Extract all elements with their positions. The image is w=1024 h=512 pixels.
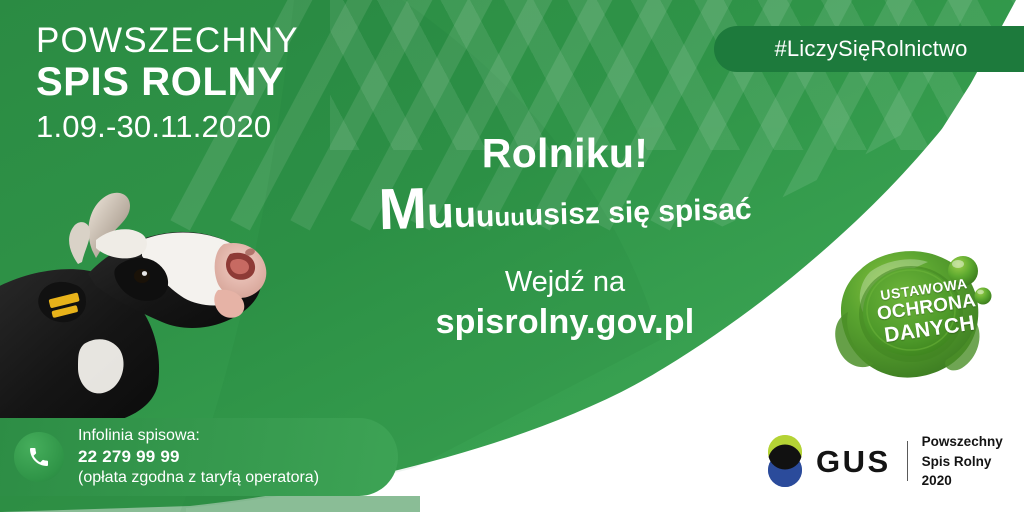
- hotline-text-block: Infolinia spisowa: 22 279 99 99 (opłata …: [78, 426, 319, 489]
- cta-website-url[interactable]: spisrolny.gov.pl: [330, 303, 800, 342]
- moo-letter-u3: u: [476, 200, 495, 234]
- gus-divider: [907, 441, 908, 481]
- gus-wordmark: GUS: [816, 446, 891, 477]
- moo-rest-text: usisz się spisać: [524, 193, 752, 233]
- hashtag-badge[interactable]: #LiczySięRolnictwo: [714, 26, 1024, 72]
- headline-moo: M u u u u u usisz się spisać: [329, 172, 800, 241]
- moo-letter-m: M: [378, 183, 428, 237]
- hotline-label: Infolinia spisowa:: [78, 426, 319, 446]
- headline-rolniku: Rolniku!: [330, 132, 800, 175]
- data-protection-seal: USTAWOWA OCHRONA DANYCH: [826, 248, 1024, 398]
- title-line-powszechny: POWSZECHNY: [36, 22, 336, 60]
- title-line-spis-rolny: SPIS ROLNY: [36, 60, 336, 105]
- phone-icon: [14, 432, 64, 482]
- hotline-number[interactable]: 22 279 99 99: [78, 446, 319, 468]
- main-message: Rolniku! M u u u u u usisz się spisać We…: [330, 132, 800, 342]
- hotline-panel: Infolinia spisowa: 22 279 99 99 (opłata …: [0, 418, 398, 496]
- moo-letter-u4: u: [494, 202, 511, 233]
- page-title: POWSZECHNY SPIS ROLNY 1.09.-30.11.2020: [36, 22, 336, 147]
- cow-image: [0, 178, 282, 428]
- gus-subtitle: Powszechny Spis Rolny 2020: [922, 432, 1024, 491]
- moo-letter-u5: u: [510, 204, 525, 232]
- cta-lead-text: Wejdź na: [330, 265, 800, 300]
- hotline-note: (opłata zgodna z taryfą operatora): [78, 468, 319, 488]
- census-banner: POWSZECHNY SPIS ROLNY 1.09.-30.11.2020 #…: [0, 0, 1024, 512]
- hashtag-label: #LiczySięRolnictwo: [774, 36, 967, 62]
- gus-subtitle-line2: Spis Rolny 2020: [922, 452, 1024, 491]
- moo-letter-u1: u: [426, 188, 454, 239]
- gus-logo: GUS Powszechny Spis Rolny 2020: [762, 432, 1024, 491]
- moo-letter-u2: u: [453, 194, 476, 237]
- title-line-dates: 1.09.-30.11.2020: [36, 107, 336, 147]
- gus-subtitle-line1: Powszechny: [922, 432, 1024, 452]
- gus-mark-icon: [762, 433, 808, 489]
